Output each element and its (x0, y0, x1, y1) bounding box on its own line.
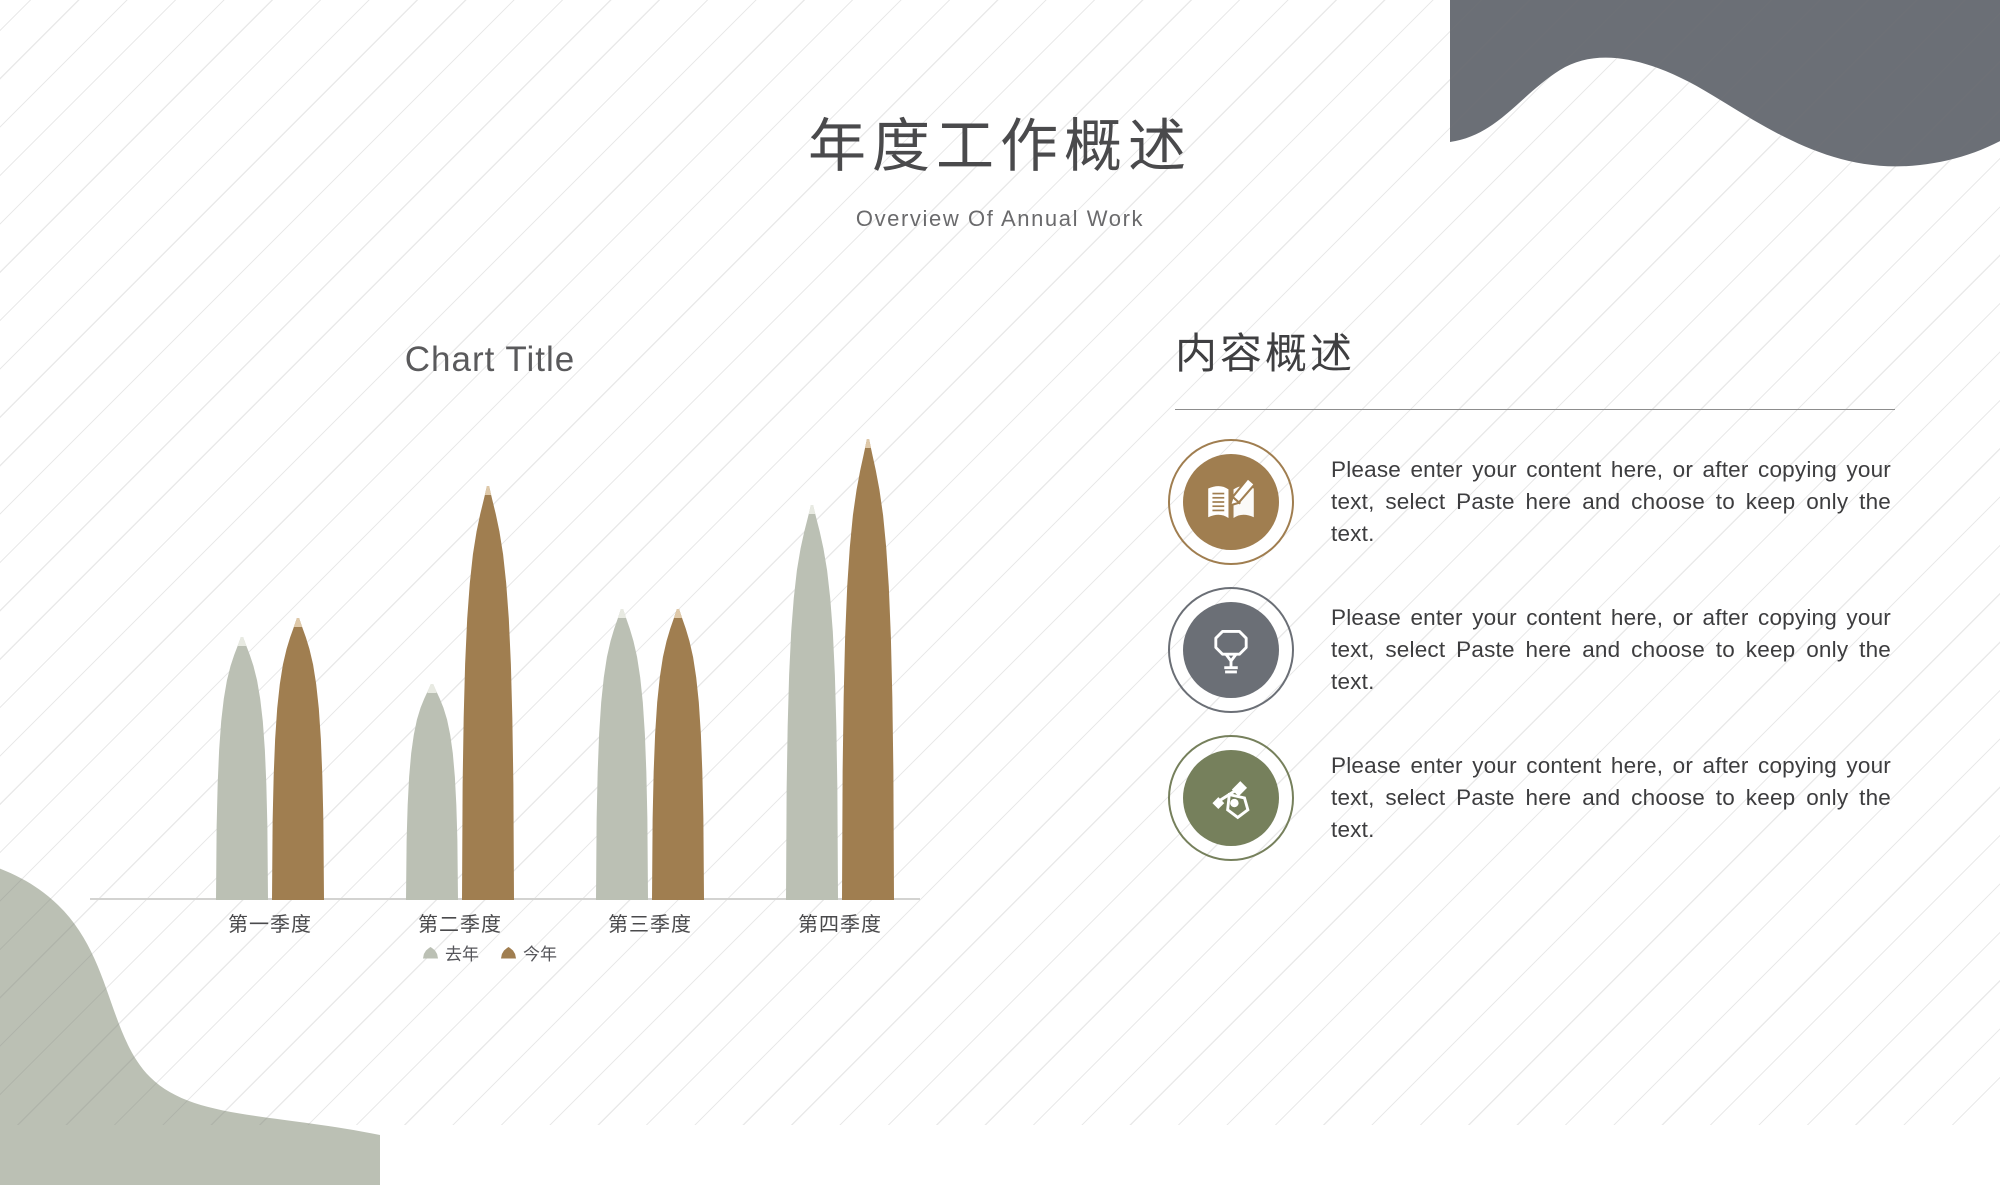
chart-bar (406, 684, 458, 900)
chart-bar (272, 618, 324, 900)
feature-icon-badge[interactable] (1175, 594, 1287, 706)
feature-icon-badge[interactable] (1175, 742, 1287, 854)
feature-description: Please enter your content here, or after… (1331, 750, 1891, 846)
chart-bar-tip (428, 684, 437, 693)
icon-outer-ring (1168, 439, 1294, 565)
feature-icon-badge[interactable] (1175, 446, 1287, 558)
section-divider (1175, 409, 1895, 410)
feature-row: Please enter your content here, or after… (1175, 742, 1895, 854)
chart-bar-tip (484, 486, 493, 495)
chart-legend-label: 今年 (523, 940, 557, 965)
chart-legend-label: 去年 (445, 940, 479, 965)
feature-row: Please enter your content here, or after… (1175, 594, 1895, 706)
chart-bar (652, 609, 704, 900)
chart-legend-item[interactable]: 今年 (501, 940, 557, 965)
chart-title: Chart Title (60, 330, 920, 380)
legend-swatch-icon (501, 947, 516, 959)
content-overview-panel: 内容概述 Please enter your content here, or … (1175, 320, 1895, 854)
chart-x-axis-label: 第四季度 (760, 908, 920, 937)
chart-plot-area: 第一季度第二季度第三季度第四季度 (90, 430, 920, 900)
chart-bar-tip (864, 439, 873, 448)
chart-bar-tip (674, 609, 683, 618)
feature-description: Please enter your content here, or after… (1331, 454, 1891, 550)
chart-x-axis-label: 第三季度 (570, 908, 730, 937)
chart-x-axis-label: 第一季度 (190, 908, 350, 937)
page-title: 年度工作概述 (0, 118, 2000, 176)
chart-x-axis-label: 第二季度 (380, 908, 540, 937)
chart-panel: Chart Title 第一季度第二季度第三季度第四季度 去年今年 (60, 330, 920, 990)
chart-bar-tip (618, 609, 627, 618)
chart-legend: 去年今年 (60, 940, 920, 965)
feature-list: Please enter your content here, or after… (1175, 446, 1895, 854)
chart-bar-tip (294, 618, 303, 627)
chart-bar (786, 505, 838, 900)
chart-legend-item[interactable]: 去年 (423, 940, 479, 965)
chart-bar-tip (808, 505, 817, 514)
feature-description: Please enter your content here, or after… (1331, 602, 1891, 698)
icon-outer-ring (1168, 587, 1294, 713)
chart-bar (842, 439, 894, 900)
legend-swatch-icon (423, 947, 438, 959)
chart-bar (216, 637, 268, 900)
chart-bar (596, 609, 648, 900)
section-title: 内容概述 (1175, 320, 1895, 381)
feature-row: Please enter your content here, or after… (1175, 446, 1895, 558)
icon-outer-ring (1168, 735, 1294, 861)
slide-header: 年度工作概述 Overview Of Annual Work (0, 118, 2000, 232)
chart-bar-tip (238, 637, 247, 646)
chart-bar (462, 486, 514, 900)
page-subtitle: Overview Of Annual Work (0, 206, 2000, 232)
